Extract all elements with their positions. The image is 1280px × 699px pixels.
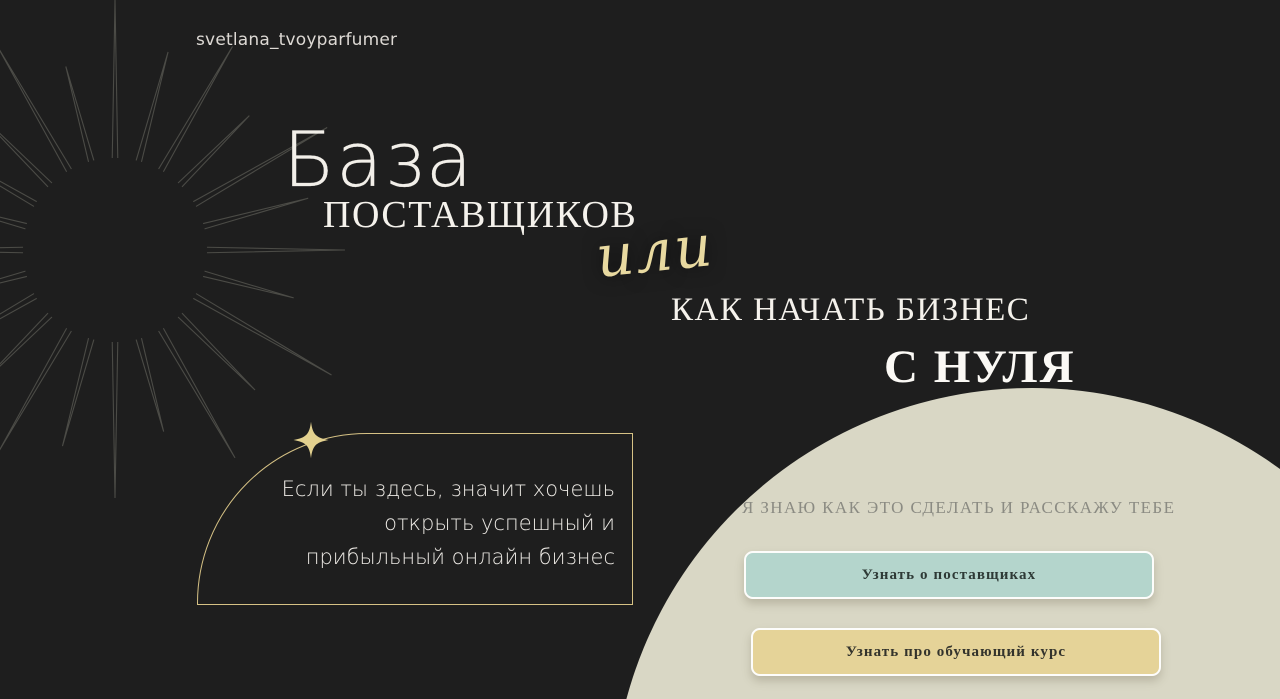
headline-script-word: или xyxy=(593,216,716,286)
account-handle: svetlana_tvoyparfumer xyxy=(196,30,397,50)
promo-banner: svetlana_tvoyparfumer База ПОСТАВЩИКОВ и… xyxy=(0,0,1280,699)
headline-line-3: КАК НАЧАТЬ БИЗНЕС xyxy=(671,294,1030,327)
headline-group: База ПОСТАВЩИКОВ или КАК НАЧАТЬ БИЗНЕС С… xyxy=(0,0,1280,400)
headline-line-1: База xyxy=(283,122,473,198)
course-button[interactable]: Узнать про обучающий курс xyxy=(751,628,1161,676)
course-button-label: Узнать про обучающий курс xyxy=(846,644,1066,661)
headline-line-2: ПОСТАВЩИКОВ xyxy=(323,196,637,234)
cta-kicker: Я ЗНАЮ КАК ЭТО СДЕЛАТЬ И РАССКАЖУ ТЕБЕ xyxy=(742,498,1175,518)
callout-text: Если ты здесь, значит хочешь открыть усп… xyxy=(255,472,615,574)
headline-line-4: С НУЛЯ xyxy=(884,344,1076,391)
suppliers-button-label: Узнать о поставщиках xyxy=(862,567,1037,584)
starburst-icon xyxy=(0,0,365,500)
suppliers-button[interactable]: Узнать о поставщиках xyxy=(744,551,1154,599)
